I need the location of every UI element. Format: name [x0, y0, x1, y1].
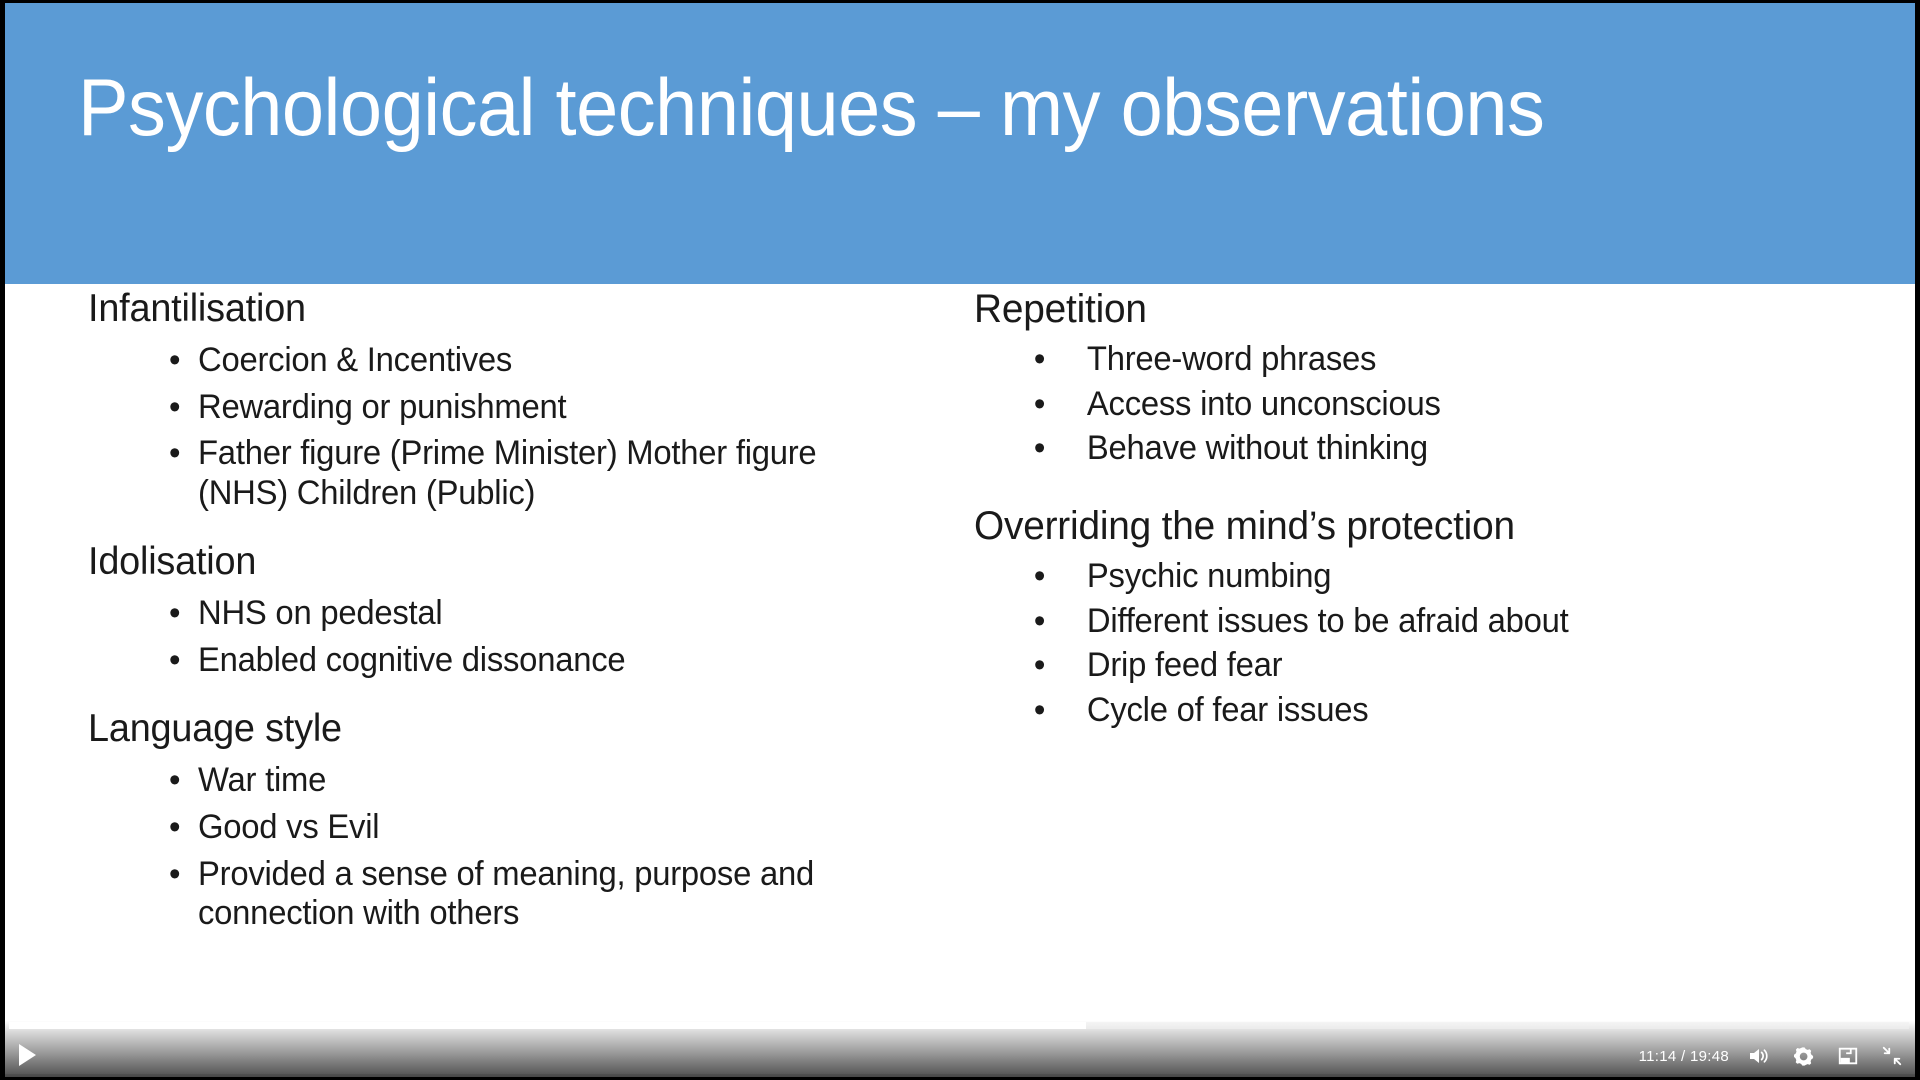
section-heading: Idolisation [88, 537, 883, 587]
bullet-icon: • [169, 641, 180, 681]
list-item-label: NHS on pedestal [198, 594, 442, 632]
video-player-viewport: Psychological techniques – my observatio… [0, 0, 1920, 1080]
section-overriding-the-minds-protection: Overriding the mind’s protection • Psych… [974, 501, 1794, 731]
progress-bar-track[interactable] [9, 1022, 1909, 1029]
section-heading: Infantilisation [88, 284, 883, 334]
list-item: • Provided a sense of meaning, purpose a… [88, 855, 879, 934]
bullet-icon: • [169, 761, 180, 801]
bullet-icon: • [1034, 429, 1045, 469]
bullet-icon: • [169, 434, 180, 474]
bullet-icon: • [169, 594, 180, 634]
slide-body: Infantilisation • Coercion & Incentives … [5, 284, 1915, 1074]
section-heading: Overriding the mind’s protection [974, 501, 1769, 552]
exit-fullscreen-icon[interactable] [1879, 1043, 1905, 1069]
list-item: • Father figure (Prime Minister) Mother … [88, 434, 879, 513]
bullet-list: • Psychic numbing • Different issues to … [974, 557, 1794, 730]
bullet-icon: • [1034, 557, 1045, 597]
list-item: • NHS on pedestal [88, 594, 879, 634]
list-item: • Behave without thinking [974, 429, 1765, 469]
bullet-list: • Three-word phrases • Access into uncon… [974, 340, 1794, 469]
section-idolisation: Idolisation • NHS on pedestal • Enabled … [88, 537, 908, 680]
list-item-label: Access into unconscious [1087, 385, 1441, 423]
presentation-slide: Psychological techniques – my observatio… [5, 3, 1915, 1074]
bullet-icon: • [1034, 385, 1045, 425]
slide-title: Psychological techniques – my observatio… [78, 65, 1544, 152]
list-item: • Enabled cognitive dissonance [88, 641, 879, 681]
spacer [88, 519, 908, 537]
video-control-bar: 11:14 / 19:48 [5, 1013, 1915, 1077]
list-item-label: Psychic numbing [1087, 557, 1331, 595]
bullet-list: • Coercion & Incentives • Rewarding or p… [88, 341, 908, 513]
spacer [88, 686, 908, 704]
list-item: • Access into unconscious [974, 385, 1765, 425]
list-item-label: Father figure (Prime Minister) Mother fi… [198, 434, 816, 512]
play-button[interactable] [13, 1039, 47, 1071]
bullet-icon: • [1034, 646, 1045, 686]
list-item-label: War time [198, 761, 326, 799]
list-item-label: Provided a sense of meaning, purpose and… [198, 855, 814, 933]
spacer [974, 483, 1794, 501]
list-item-label: Drip feed fear [1087, 646, 1282, 684]
list-item-label: Behave without thinking [1087, 429, 1428, 467]
list-item-label: Enabled cognitive dissonance [198, 641, 625, 679]
list-item-label: Three-word phrases [1087, 340, 1376, 378]
slide-column-right: Repetition • Three-word phrases • Access… [974, 284, 1794, 745]
time-display: 11:14 / 19:48 [1639, 1048, 1729, 1065]
play-icon [19, 1044, 36, 1066]
bullet-icon: • [169, 341, 180, 381]
list-item-label: Good vs Evil [198, 808, 379, 846]
bullet-icon: • [169, 808, 180, 848]
list-item: • Different issues to be afraid about [974, 602, 1765, 642]
bullet-icon: • [169, 388, 180, 428]
bullet-list: • War time • Good vs Evil • Provided a s… [88, 761, 908, 933]
section-heading: Language style [88, 704, 883, 754]
list-item: • Three-word phrases [974, 340, 1765, 380]
section-language-style: Language style • War time • Good vs Evil… [88, 704, 908, 933]
bullet-icon: • [1034, 691, 1045, 731]
section-heading: Repetition [974, 284, 1769, 335]
bullet-icon: • [169, 855, 180, 895]
list-item: • Coercion & Incentives [88, 341, 879, 381]
progress-bar-played [9, 1022, 1086, 1029]
list-item: • Cycle of fear issues [974, 691, 1765, 731]
slide-title-band: Psychological techniques – my observatio… [5, 3, 1915, 284]
list-item-label: Coercion & Incentives [198, 341, 512, 379]
list-item: • War time [88, 761, 879, 801]
bullet-list: • NHS on pedestal • Enabled cognitive di… [88, 594, 908, 680]
list-item-label: Cycle of fear issues [1087, 691, 1368, 729]
list-item: • Psychic numbing [974, 557, 1765, 597]
list-item: • Good vs Evil [88, 808, 879, 848]
slide-column-left: Infantilisation • Coercion & Incentives … [88, 284, 908, 940]
gear-icon[interactable] [1791, 1043, 1817, 1069]
list-item-label: Rewarding or punishment [198, 388, 566, 426]
progress-scrubber-handle[interactable] [1086, 1020, 1087, 1031]
list-item-label: Different issues to be afraid about [1087, 602, 1569, 640]
volume-icon[interactable] [1747, 1043, 1773, 1069]
list-item: • Drip feed fear [974, 646, 1765, 686]
player-right-controls: 11:14 / 19:48 [1639, 1039, 1905, 1073]
bullet-icon: • [1034, 602, 1045, 642]
miniplayer-icon[interactable] [1835, 1043, 1861, 1069]
section-infantilisation: Infantilisation • Coercion & Incentives … [88, 284, 908, 513]
list-item: • Rewarding or punishment [88, 388, 879, 428]
section-repetition: Repetition • Three-word phrases • Access… [974, 284, 1794, 469]
bullet-icon: • [1034, 340, 1045, 380]
